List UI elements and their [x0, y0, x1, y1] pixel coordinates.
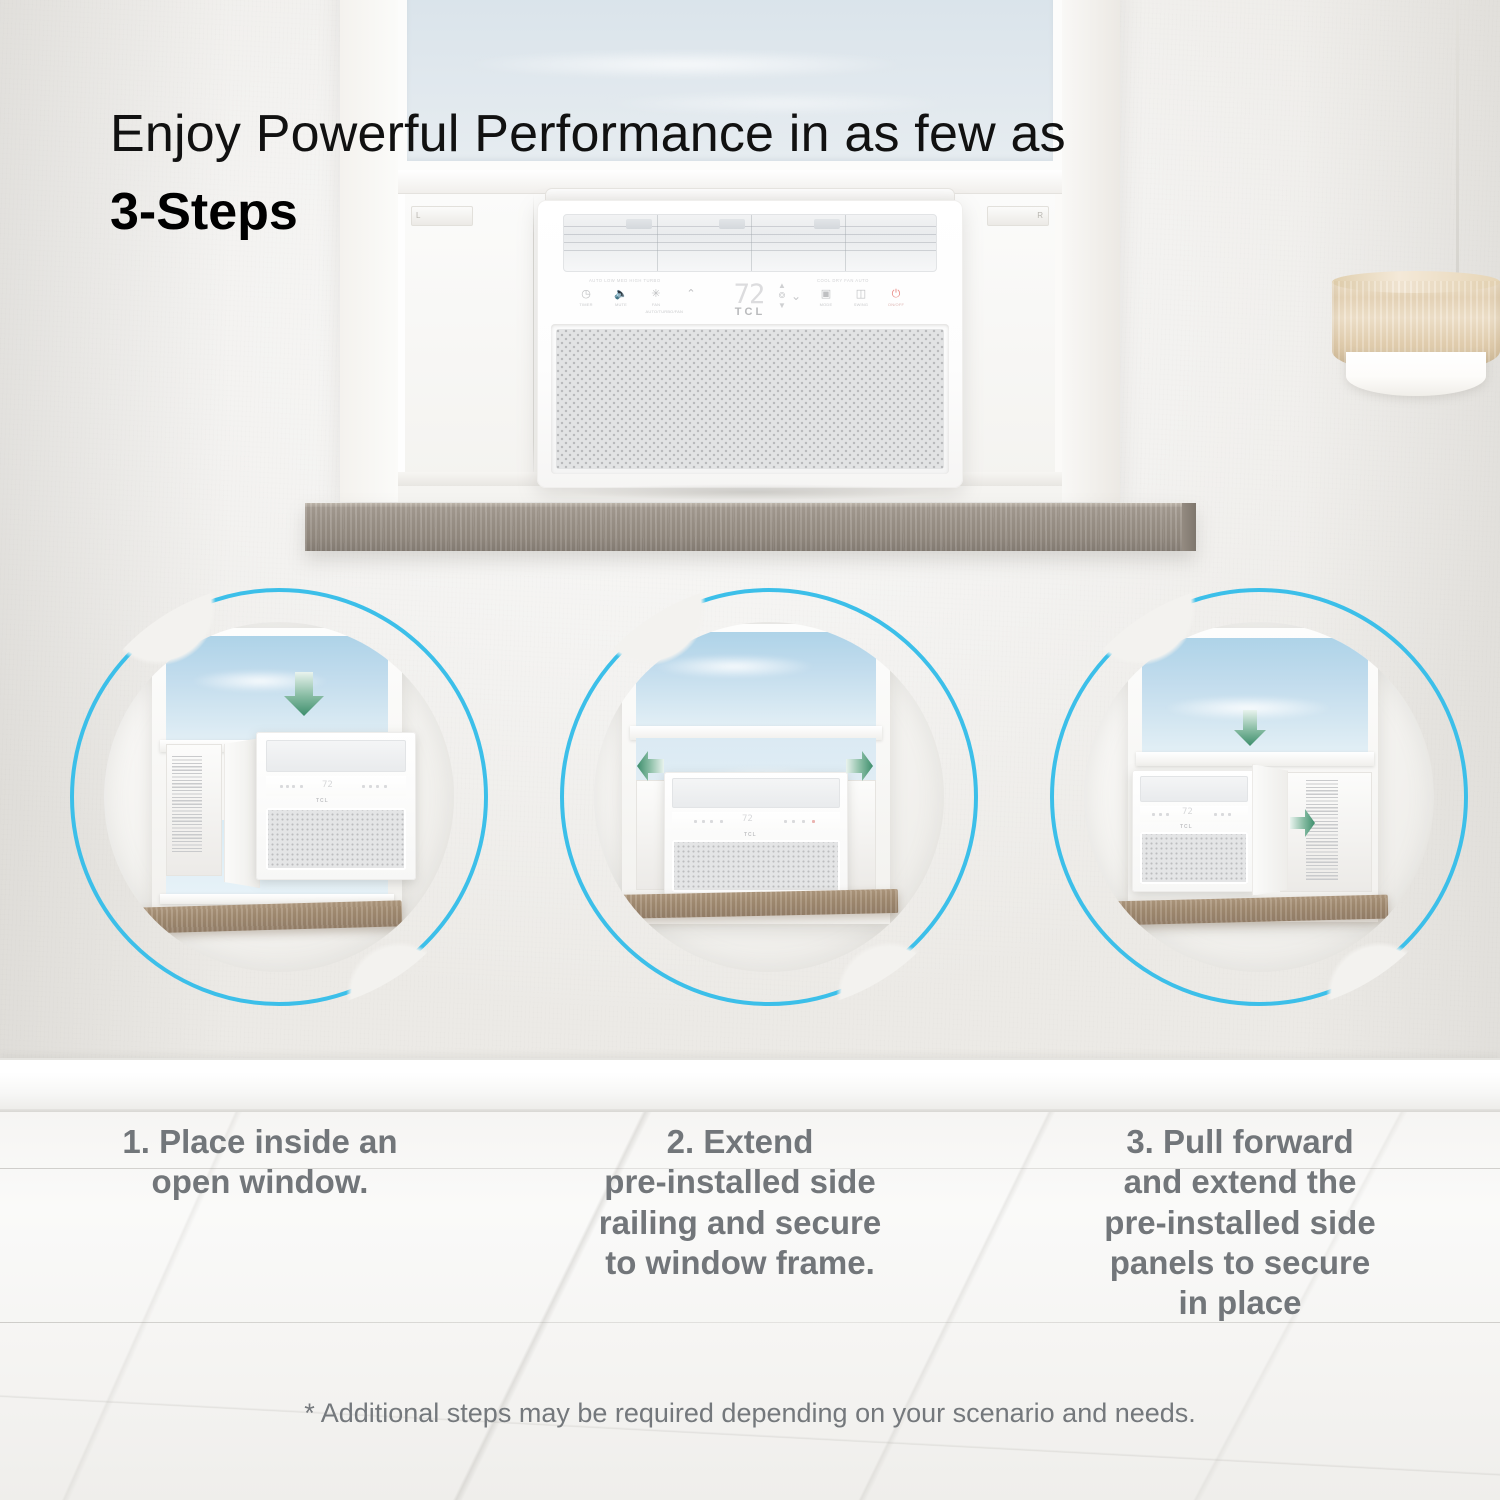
wood-shelf [305, 503, 1195, 551]
step-circles: 72 TCL [0, 588, 1500, 1008]
mute-icon: 🔈 [610, 287, 632, 300]
swing-button[interactable]: ◫ SWING [850, 287, 872, 307]
step-2-caption: 2. Extend pre-installed side railing and… [530, 1122, 950, 1283]
chevron-down-icon[interactable]: ⌄ [791, 289, 801, 303]
step-3-circle: 72 TCL [1050, 588, 1468, 1006]
swing-icon: ◫ [850, 287, 872, 300]
step-3-caption: 3. Pull forward and extend the pre-insta… [1020, 1122, 1460, 1323]
fan-speed-header: AUTO LOW MED HIGH TURBO [589, 278, 661, 283]
pendant-cord [1456, 0, 1459, 284]
shelf-grain [305, 503, 1195, 551]
window-lock-left[interactable]: L [411, 206, 473, 226]
step-1-caption: 1. Place inside an open window. [30, 1122, 490, 1203]
mode-header: COOL DRY FAN AUTO [817, 278, 869, 283]
power-icon: ⏻ [885, 287, 907, 300]
ac-drop-shadow [571, 484, 931, 500]
ac-front-grille [556, 329, 944, 469]
step-3-ring [1050, 588, 1468, 1006]
ac-body: AUTO LOW MED HIGH TURBO COOL DRY FAN AUT… [537, 200, 963, 488]
timer-button[interactable]: ◷ TIMER [575, 287, 597, 307]
clock-icon: ◷ [575, 287, 597, 300]
window-reveal-left [340, 0, 398, 502]
step-2-ring [560, 588, 978, 1006]
baseboard [0, 1058, 1500, 1116]
pendant-diffuser [1346, 352, 1486, 396]
pendant-lamp [1332, 0, 1500, 400]
mode-button[interactable]: ▣ MODE [815, 287, 837, 307]
page-headline-bold: 3-Steps [110, 182, 298, 242]
mode-icon: ▣ [815, 287, 837, 300]
page-headline: Enjoy Powerful Performance in as few as [110, 104, 1360, 164]
sky-cloud-wisp [459, 50, 911, 79]
power-button[interactable]: ⏻ ON/OFF [885, 287, 907, 307]
footnote: * Additional steps may be required depen… [0, 1398, 1500, 1429]
step-1-circle: 72 TCL [70, 588, 488, 1006]
chevron-up-icon: ⌃ [680, 287, 702, 300]
ac-air-louver [563, 214, 937, 272]
temp-up-button[interactable]: ⌃ [680, 287, 702, 300]
step-1-ring [70, 588, 488, 1006]
fan-icon: ✳ [645, 287, 667, 300]
air-conditioner-unit: AUTO LOW MED HIGH TURBO COOL DRY FAN AUT… [531, 188, 969, 488]
window-reveal-right [1062, 0, 1120, 502]
step-2-circle: 72 TCL [560, 588, 978, 1006]
window-lock-right[interactable]: R [987, 206, 1049, 226]
tcl-logo: TCL [537, 306, 963, 318]
mute-button[interactable]: 🔈 MUTE [610, 287, 632, 307]
shelf-end-cap [1182, 503, 1196, 551]
ac-front-grille-frame [551, 324, 949, 474]
